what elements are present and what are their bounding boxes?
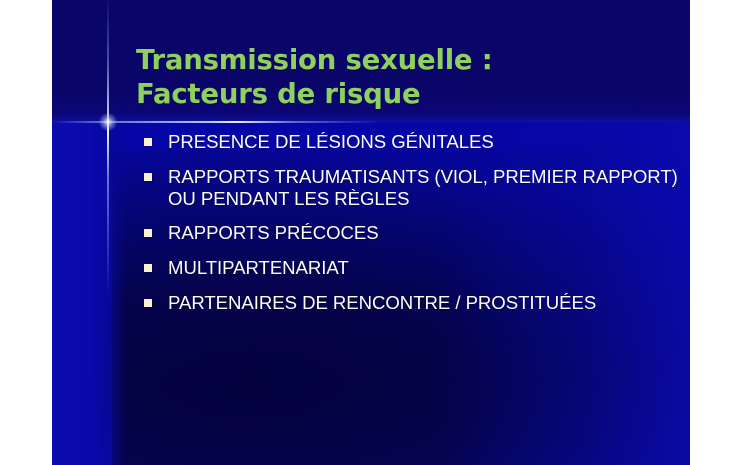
slide-title: Transmission sexuelle : Facteurs de risq… <box>136 44 676 111</box>
bullet-text: MULTIPARTENARIAT <box>168 257 680 279</box>
list-item: RAPPORTS TRAUMATISANTS (VIOL, PREMIER RA… <box>140 166 680 210</box>
presentation-slide: Transmission sexuelle : Facteurs de risq… <box>52 0 690 465</box>
list-item: MULTIPARTENARIAT <box>140 257 680 279</box>
bullet-square-icon <box>144 229 152 237</box>
bullet-list: PRESENCE DE LÉSIONS GÉNITALES RAPPORTS T… <box>140 131 680 314</box>
list-item: PARTENAIRES DE RENCONTRE / PROSTITUÉES <box>140 292 680 314</box>
bullet-square-icon <box>144 138 152 146</box>
slide-canvas: Transmission sexuelle : Facteurs de risq… <box>0 0 750 465</box>
bullet-square-icon <box>144 299 152 307</box>
bullet-text: PARTENAIRES DE RENCONTRE / PROSTITUÉES <box>168 292 680 314</box>
bullet-text: RAPPORTS TRAUMATISANTS (VIOL, PREMIER RA… <box>168 166 680 210</box>
bullet-square-icon <box>144 264 152 272</box>
list-item: RAPPORTS PRÉCOCES <box>140 222 680 244</box>
list-item: PRESENCE DE LÉSIONS GÉNITALES <box>140 131 680 153</box>
bullet-text: PRESENCE DE LÉSIONS GÉNITALES <box>168 131 680 153</box>
bullet-square-icon <box>144 173 152 181</box>
bullet-text: RAPPORTS PRÉCOCES <box>168 222 680 244</box>
slide-content: Transmission sexuelle : Facteurs de risq… <box>52 0 690 465</box>
